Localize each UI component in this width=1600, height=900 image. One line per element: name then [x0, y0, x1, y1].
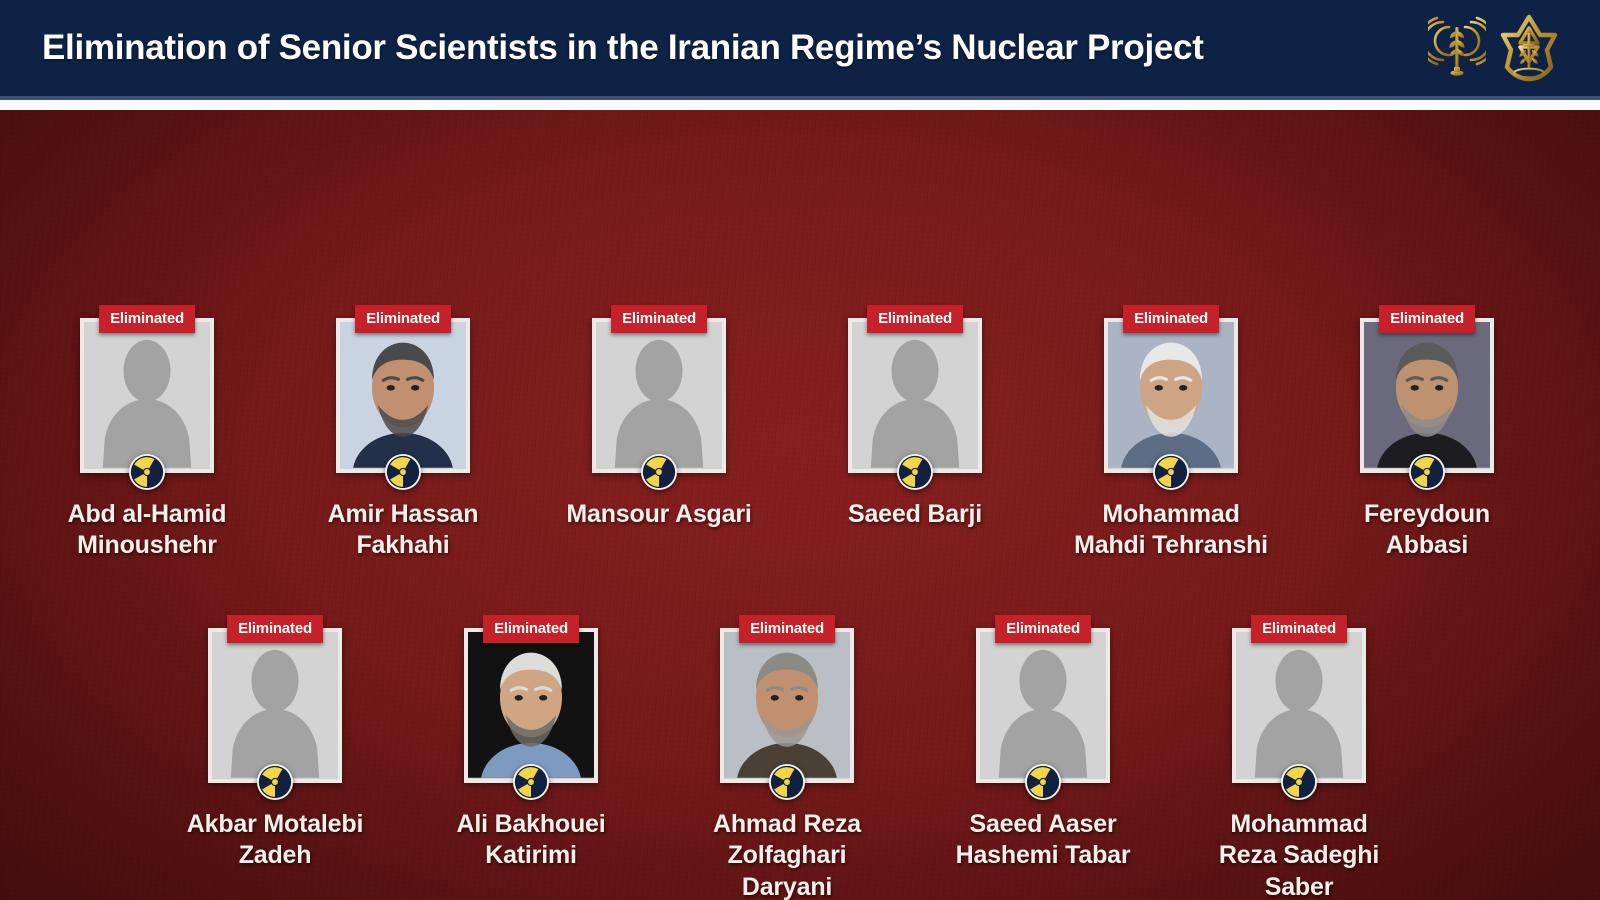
photo-frame	[208, 628, 342, 783]
scientist-name: Mansour Asgari	[544, 499, 774, 530]
radiation-icon	[640, 453, 678, 491]
page-title: Elimination of Senior Scientists in the …	[42, 28, 1428, 68]
photo-frame	[80, 318, 214, 473]
radiation-icon	[384, 453, 422, 491]
photo-wrap: Eliminated	[208, 628, 342, 783]
photo-frame	[464, 628, 598, 783]
idf-spokesperson-unit-logo	[1428, 15, 1486, 81]
placeholder-silhouette-icon	[212, 632, 338, 778]
scientist-name: Ali Bakhouei Katirimi	[416, 809, 646, 872]
photo-wrap: Eliminated	[1232, 628, 1366, 783]
status-badge: Eliminated	[227, 615, 323, 643]
photo	[852, 322, 978, 469]
status-badge: Eliminated	[99, 305, 195, 333]
photo-frame	[1232, 628, 1366, 783]
page-header: Elimination of Senior Scientists in the …	[0, 0, 1600, 96]
radiation-icon	[256, 763, 294, 801]
scientist-name: Amir Hassan Fakhahi	[288, 499, 518, 562]
scientists-grid-stage: Eliminated Abd al-Hamid Minoushehr Elimi…	[0, 110, 1600, 900]
radiation-icon	[1408, 453, 1446, 491]
scientist-card[interactable]: Eliminated Saeed Aaser Hashemi Tabar	[968, 628, 1118, 872]
photo-wrap: Eliminated	[976, 628, 1110, 783]
photo	[1364, 322, 1490, 469]
photo	[596, 322, 722, 469]
photo-frame	[1104, 318, 1238, 473]
photo	[212, 632, 338, 779]
scientist-name: Ahmad Reza Zolfaghari Daryani	[672, 809, 902, 900]
radiation-icon	[1280, 763, 1318, 801]
photo-frame	[848, 318, 982, 473]
photo-frame	[592, 318, 726, 473]
photo-wrap: Eliminated	[464, 628, 598, 783]
portrait-photo	[468, 632, 594, 778]
photo	[1236, 632, 1362, 779]
placeholder-silhouette-icon	[596, 322, 722, 468]
photo-wrap: Eliminated	[848, 318, 982, 473]
scientist-name: Mohammad Mahdi Tehranshi	[1056, 499, 1286, 562]
portrait-photo	[724, 632, 850, 778]
infographic-page: Elimination of Senior Scientists in the …	[0, 0, 1600, 900]
status-badge: Eliminated	[1251, 615, 1347, 643]
radiation-icon	[1152, 453, 1190, 491]
status-badge: Eliminated	[995, 615, 1091, 643]
status-badge: Eliminated	[355, 305, 451, 333]
status-badge: Eliminated	[739, 615, 835, 643]
portrait-photo	[1364, 322, 1490, 468]
header-logo-group	[1428, 14, 1576, 82]
photo-frame	[976, 628, 1110, 783]
placeholder-silhouette-icon	[1236, 632, 1362, 778]
photo	[84, 322, 210, 469]
photo-frame	[336, 318, 470, 473]
photo-wrap: Eliminated	[1104, 318, 1238, 473]
photo	[1108, 322, 1234, 469]
portrait-photo	[340, 322, 466, 468]
scientist-card[interactable]: Eliminated Amir Hassan Fakhahi	[328, 318, 478, 562]
photo-wrap: Eliminated	[80, 318, 214, 473]
photo-frame	[1360, 318, 1494, 473]
placeholder-silhouette-icon	[852, 322, 978, 468]
scientist-name: Abd al-Hamid Minoushehr	[32, 499, 262, 562]
radiation-icon	[1024, 763, 1062, 801]
white-separator-strip	[0, 100, 1600, 110]
scientist-card[interactable]: Eliminated Mohammad Mahdi Tehranshi	[1096, 318, 1246, 562]
photo	[468, 632, 594, 779]
photo-frame	[720, 628, 854, 783]
scientist-card[interactable]: Eliminated Saeed Barji	[840, 318, 990, 530]
photo-wrap: Eliminated	[592, 318, 726, 473]
radiation-icon	[768, 763, 806, 801]
scientist-name: Akbar Motalebi Zadeh	[160, 809, 390, 872]
photo-wrap: Eliminated	[336, 318, 470, 473]
status-badge: Eliminated	[611, 305, 707, 333]
photo	[724, 632, 850, 779]
radiation-icon	[896, 453, 934, 491]
scientist-name: Mohammad Reza Sadeghi Saber	[1184, 809, 1414, 900]
radiation-icon	[512, 763, 550, 801]
radiation-icon	[128, 453, 166, 491]
photo	[340, 322, 466, 469]
scientist-card[interactable]: Eliminated Fereydoun Abbasi	[1352, 318, 1502, 562]
scientist-card[interactable]: Eliminated Ahmad Reza Zolfaghari Daryani	[712, 628, 862, 900]
status-badge: Eliminated	[1123, 305, 1219, 333]
scientist-name: Saeed Aaser Hashemi Tabar	[928, 809, 1158, 872]
scientist-card[interactable]: Eliminated Akbar Motalebi Zadeh	[200, 628, 350, 872]
photo-wrap: Eliminated	[720, 628, 854, 783]
scientist-card[interactable]: Eliminated Mohammad Reza Sadeghi Saber	[1224, 628, 1374, 900]
scientist-name: Fereydoun Abbasi	[1312, 499, 1542, 562]
portrait-photo	[1108, 322, 1234, 468]
scientist-card[interactable]: Eliminated Abd al-Hamid Minoushehr	[72, 318, 222, 562]
scientist-name: Saeed Barji	[800, 499, 1030, 530]
photo-wrap: Eliminated	[1360, 318, 1494, 473]
status-badge: Eliminated	[867, 305, 963, 333]
status-badge: Eliminated	[483, 615, 579, 643]
placeholder-silhouette-icon	[980, 632, 1106, 778]
placeholder-silhouette-icon	[84, 322, 210, 468]
status-badge: Eliminated	[1379, 305, 1475, 333]
scientist-card[interactable]: Eliminated Ali Bakhouei Katirimi	[456, 628, 606, 872]
scientist-card[interactable]: Eliminated Mansour Asgari	[584, 318, 734, 530]
idf-insignia-logo	[1500, 14, 1558, 82]
photo	[980, 632, 1106, 779]
